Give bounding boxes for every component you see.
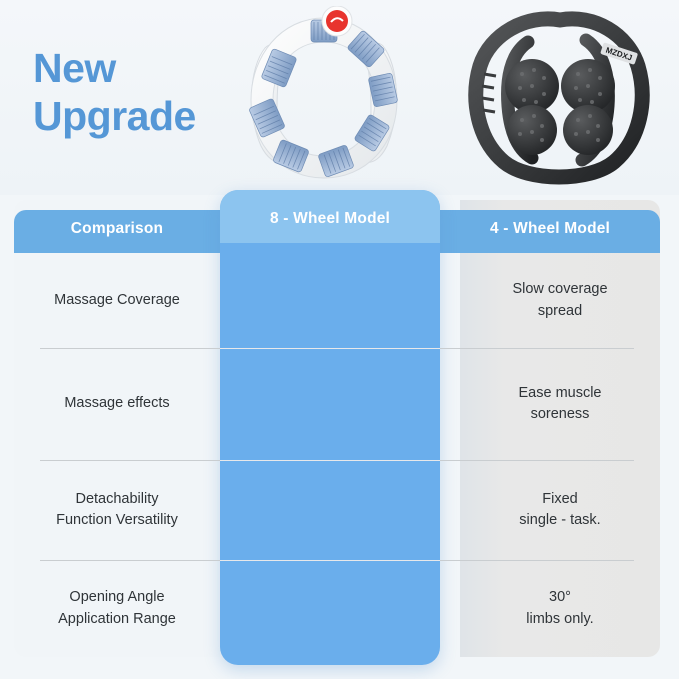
brand-badge-icon: [322, 6, 352, 36]
row-divider-mid: [220, 348, 440, 349]
cell-4-wheel: Slow coverage spread: [460, 253, 660, 348]
hero-banner: New Upgrade: [0, 0, 679, 195]
cell-feature: Massage Coverage: [14, 253, 220, 348]
cell-feature: Opening Angle Application Range: [14, 560, 220, 657]
cell-4-wheel: Ease muscle soreness: [460, 348, 660, 460]
cell-4-wheel: Fixed single - task.: [460, 460, 660, 560]
row-divider-mid: [220, 560, 440, 561]
header-label-4-wheel: 4 - Wheel Model: [440, 220, 660, 238]
cell-feature: Detachability Function Versatility: [14, 460, 220, 560]
product-image-4-wheel: MZDXJ: [462, 8, 658, 186]
comparison-table: Comparison 4 - Wheel Model 8 - Wheel Mod…: [14, 200, 660, 657]
header-label-8-wheel: 8 - Wheel Model: [220, 210, 440, 228]
cell-4-wheel: 30° limbs only.: [460, 560, 660, 657]
header-label-comparison: Comparison: [14, 220, 220, 238]
product-image-8-wheel: [231, 6, 417, 189]
row-divider-mid: [220, 460, 440, 461]
cell-feature: Massage effects: [14, 348, 220, 460]
page-title: New Upgrade: [33, 44, 196, 141]
column-8-wheel-highlight[interactable]: 8 - Wheel Model: [220, 190, 440, 665]
